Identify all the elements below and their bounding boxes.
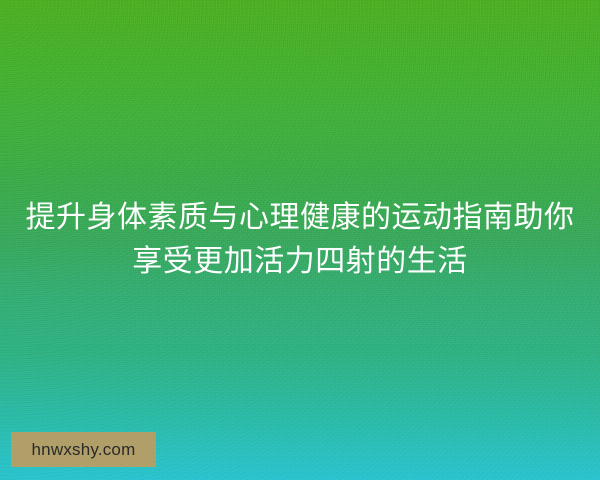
headline-line-1: 提升身体素质与心理健康的运动指南助你 — [14, 196, 586, 240]
watermark-badge: hnwxshy.com — [11, 432, 156, 467]
headline: 提升身体素质与心理健康的运动指南助你 享受更加活力四射的生活 — [0, 196, 600, 284]
headline-line-2: 享受更加活力四射的生活 — [14, 240, 586, 284]
banner-canvas: 提升身体素质与心理健康的运动指南助你 享受更加活力四射的生活 hnwxshy.c… — [0, 0, 600, 480]
watermark-label: hnwxshy.com — [32, 441, 136, 458]
